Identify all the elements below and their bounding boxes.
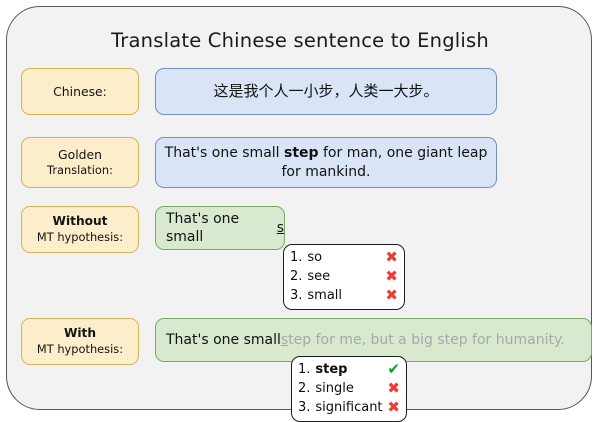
suggestion-index: 2. [290,269,302,284]
chinese-source-text-box: 这是我个人一小步，人类一大步。 [155,68,497,115]
golden-text-keyword: step [284,145,319,161]
with-typed-text: That's one small [166,331,281,349]
label-golden-line2: Translation: [47,163,113,178]
page-title: Translate Chinese sentence to English [7,29,593,52]
label-chinese-line1: Chinese: [53,84,107,100]
cross-icon: ✖ [385,269,398,284]
main-panel: Translate Chinese sentence to English Ch… [6,6,592,410]
with-cursor-char: s [281,331,288,349]
suggestion-index: 3. [290,288,302,303]
without-mt-editor[interactable]: That's one small s [155,206,285,250]
suggestion-item[interactable]: 1. step ✔ [298,360,400,379]
suggestion-word: significant [315,400,382,415]
label-golden-translation: Golden Translation: [21,137,139,188]
golden-translation-text: That's one small step for man, one giant… [164,144,488,181]
label-chinese: Chinese: [21,68,139,115]
label-without-line2: MT hypothesis: [37,230,123,245]
suggestion-word: step [315,362,347,377]
cross-icon: ✖ [385,250,398,265]
suggestion-item[interactable]: 2. single ✖ [298,379,400,398]
with-ghost-completion: tep for me, but a big step for humanity. [288,331,565,349]
suggestion-word: small [307,288,342,303]
cross-icon: ✖ [387,400,400,415]
without-cursor-char: s [277,219,284,237]
cross-icon: ✖ [385,288,398,303]
suggestion-item[interactable]: 2. see ✖ [290,267,398,286]
suggestion-item[interactable]: 3. significant ✖ [298,398,400,417]
suggestion-popup-without[interactable]: 1. so ✖ 2. see ✖ 3. small ✖ [283,244,405,310]
row-chinese-source: Chinese: 这是我个人一小步，人类一大步。 [7,67,593,117]
suggestion-index: 3. [298,400,310,415]
suggestion-word: so [307,250,322,265]
suggestion-item[interactable]: 3. small ✖ [290,286,398,305]
cross-icon: ✖ [387,381,400,396]
suggestion-word: see [307,269,330,284]
label-without-mt: Without MT hypothesis: [21,206,139,253]
screenshot-canvas: Translate Chinese sentence to English Ch… [0,0,604,422]
chinese-source-text: 这是我个人一小步，人类一大步。 [213,82,438,102]
suggestion-popup-with[interactable]: 1. step ✔ 2. single ✖ 3. significant ✖ [291,356,407,422]
label-with-line1: With [64,326,96,342]
label-without-line1: Without [53,214,108,230]
check-icon: ✔ [387,362,400,377]
label-with-mt: With MT hypothesis: [21,318,139,365]
suggestion-index: 1. [298,362,310,377]
suggestion-item[interactable]: 1. so ✖ [290,248,398,267]
row-golden-translation: Golden Translation: That's one small ste… [7,135,593,191]
suggestion-index: 1. [290,250,302,265]
suggestion-index: 2. [298,381,310,396]
golden-text-pre: That's one small [165,145,284,161]
label-golden-line1: Golden [58,147,102,163]
golden-translation-text-box: That's one small step for man, one giant… [155,137,497,188]
without-typed-text: That's one small [166,210,277,247]
suggestion-word: single [315,381,354,396]
label-with-line2: MT hypothesis: [37,342,123,357]
